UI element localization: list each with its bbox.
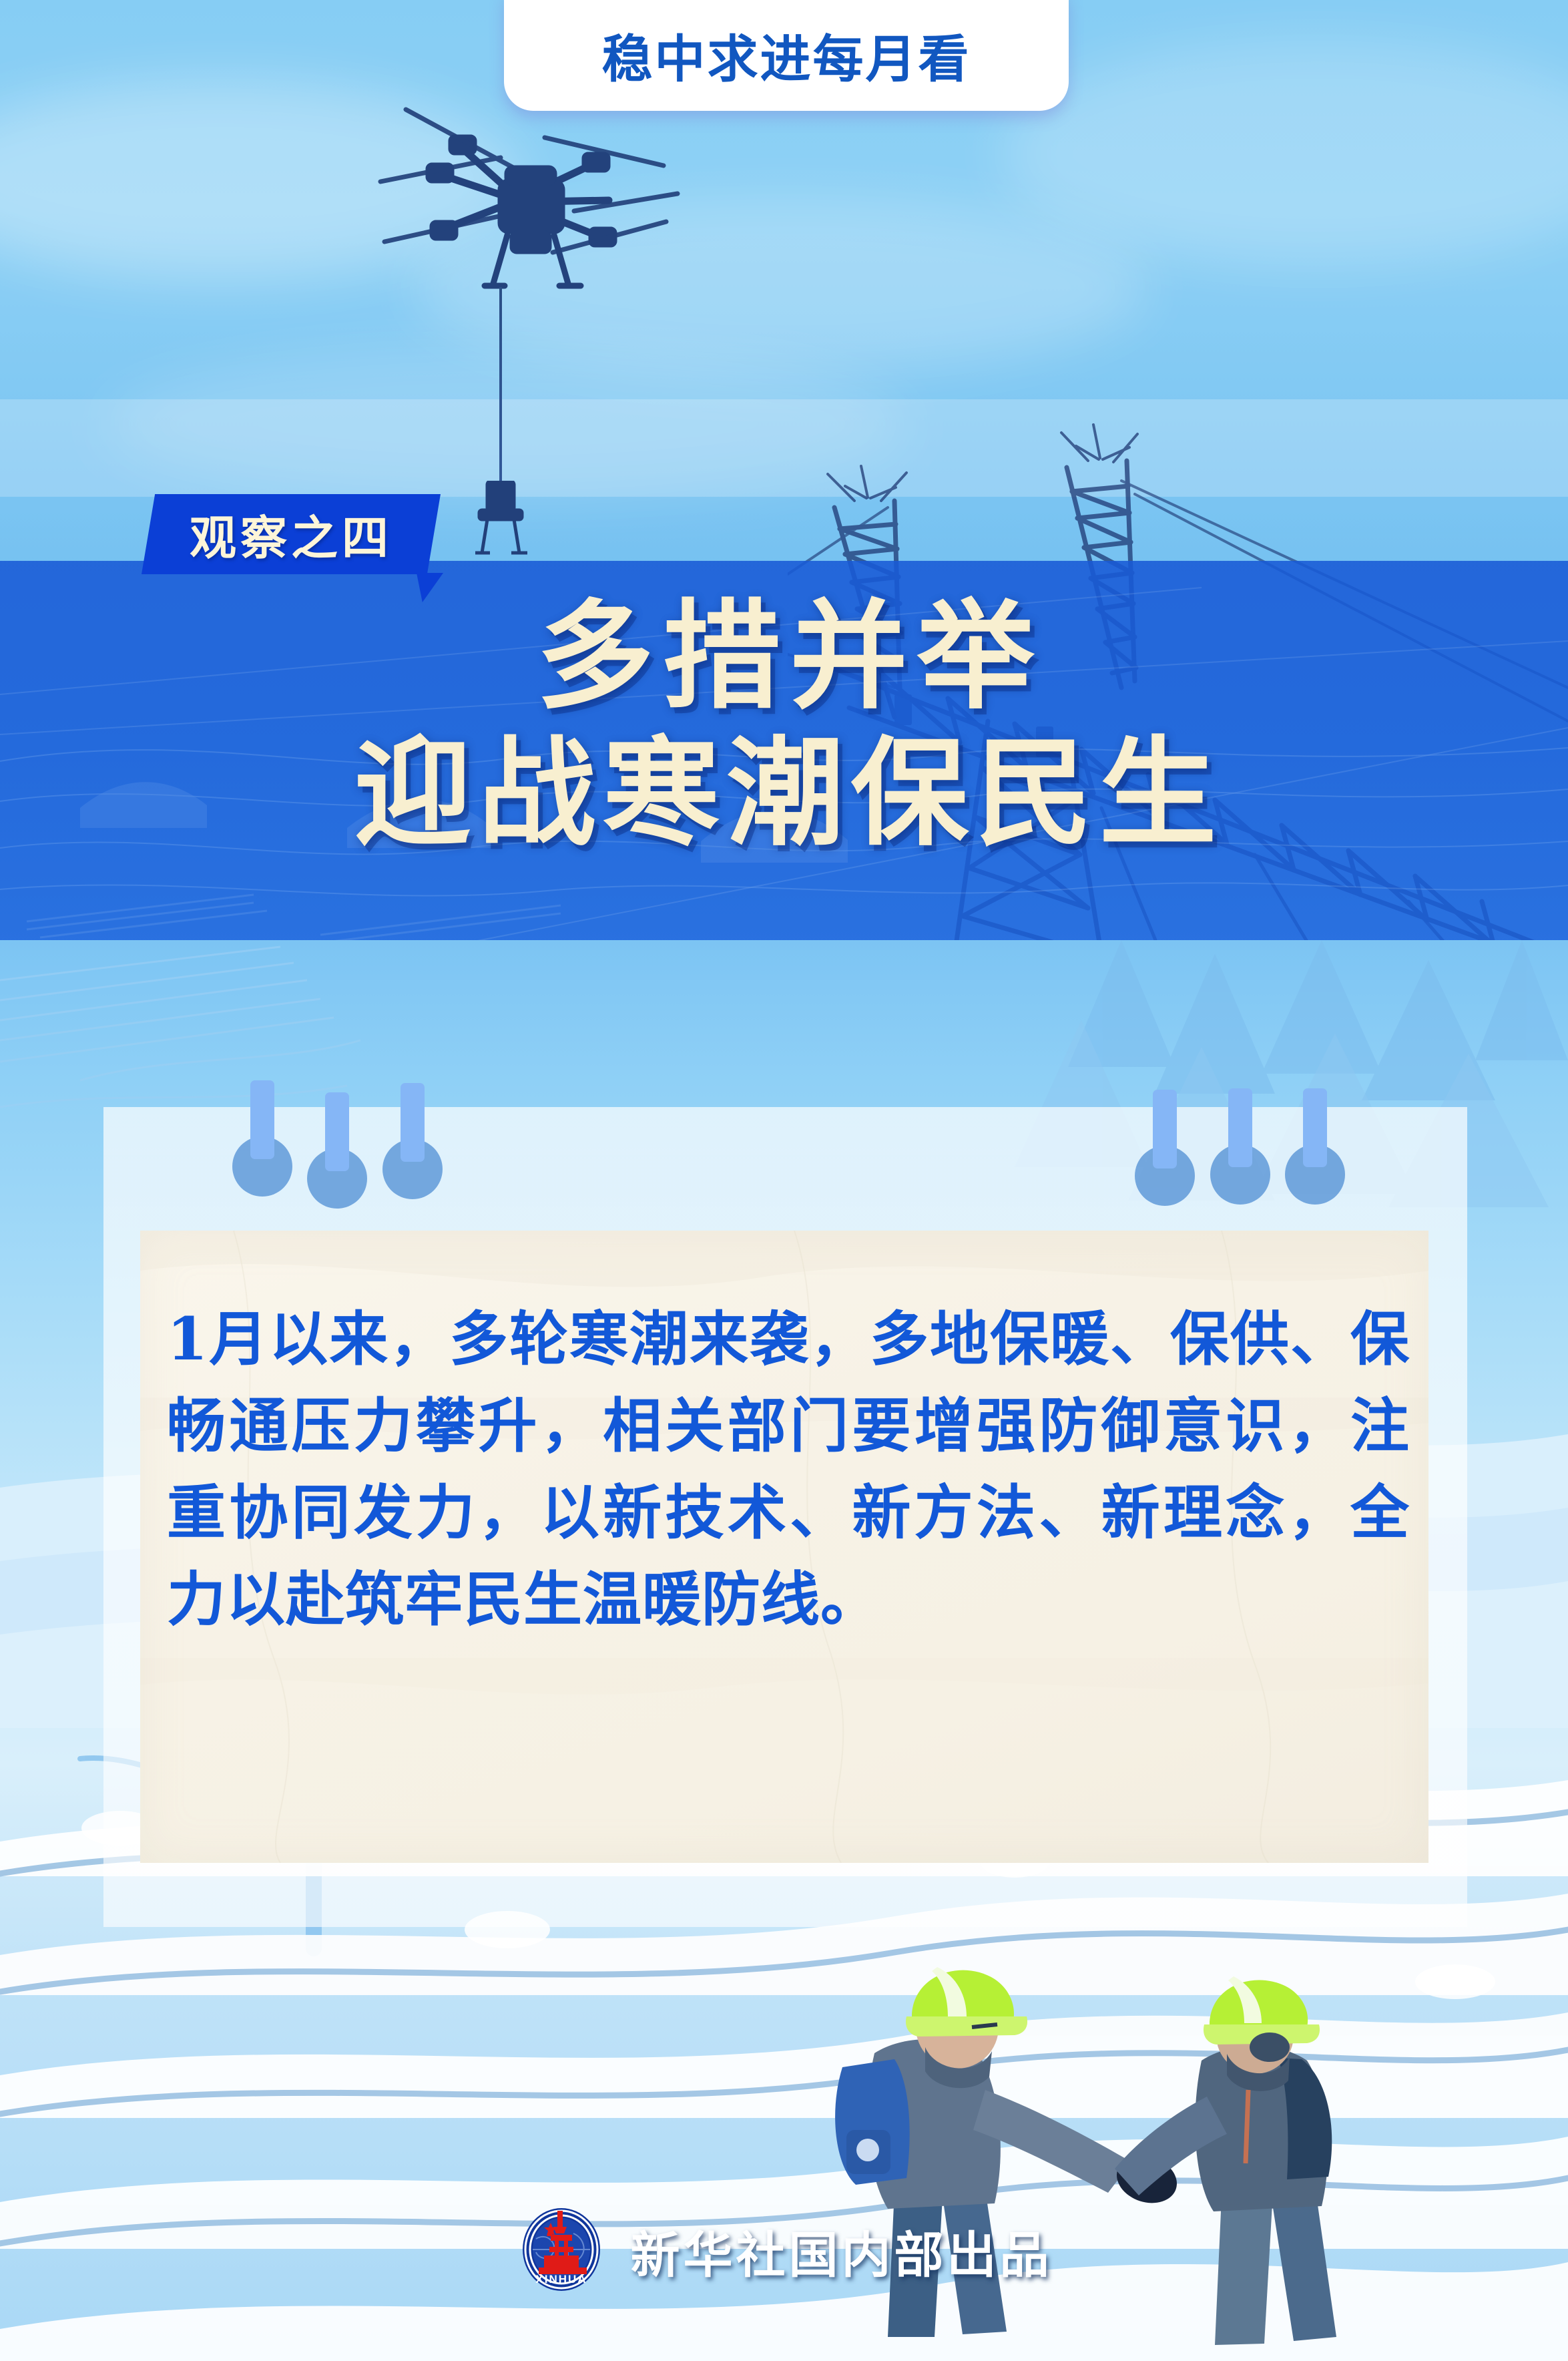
clip-pin-stem xyxy=(1228,1088,1252,1167)
cloud-wisp xyxy=(1001,40,1568,267)
clip-pin-stem xyxy=(1303,1088,1327,1167)
xinhua-logo-icon: XINHUA xyxy=(516,2207,607,2298)
xinhua-logo-caption: XINHUA xyxy=(535,2273,587,2286)
title-line-1: 多措并举 xyxy=(0,588,1568,724)
clip-pin-stem xyxy=(1153,1090,1177,1168)
card-body-text: 1月以来，多轮寒潮来袭，多地保暖、保供、保畅通压力攀升，相关部门要增强防御意识，… xyxy=(167,1295,1410,1643)
de-icing-device-icon xyxy=(467,481,534,561)
clip-pin-stem xyxy=(401,1083,425,1162)
ribbon-label: 观察之四 xyxy=(142,494,441,574)
header-badge[interactable]: 稳中求进每月看 xyxy=(504,0,1069,111)
page-title: 多措并举 迎战寒潮保民生 xyxy=(0,588,1568,861)
section-ribbon-tag: 观察之四 xyxy=(142,494,441,574)
footer-credit-bar: XINHUA 新华社国内部出品 xyxy=(0,2195,1568,2309)
poster-root: 稳中求进每月看 观察之四 多措并举 迎战寒潮保民生 xyxy=(0,0,1568,2361)
clip-pin-stem xyxy=(250,1080,274,1159)
drone-suspension-cable xyxy=(499,287,502,487)
header-badge-label: 稳中求进每月看 xyxy=(602,18,971,91)
clip-pin-stem xyxy=(325,1092,349,1171)
drone-icon xyxy=(374,93,681,314)
title-line-2: 迎战寒潮保民生 xyxy=(0,724,1568,861)
footer-credit-label: 新华社国内部出品 xyxy=(631,2215,1053,2287)
